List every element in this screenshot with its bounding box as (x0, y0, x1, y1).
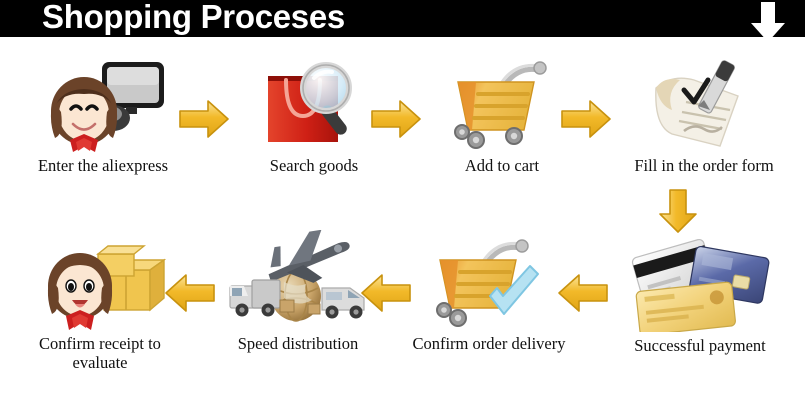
step-fill-in-the-order-form[interactable]: Fill in the order form (608, 56, 800, 175)
order-form-pen-icon (608, 56, 800, 152)
step-caption: Add to cart (418, 156, 586, 175)
step-caption: Enter the aliexpress (8, 156, 198, 175)
step-speed-distribution[interactable]: Speed distribution (208, 230, 388, 353)
step-caption: Speed distribution (208, 334, 388, 353)
step-caption: Confirm order delivery (396, 334, 582, 353)
step-caption: Successful payment (600, 336, 800, 355)
step-caption: Confirm receipt to evaluate (6, 334, 194, 372)
step-confirm-order-delivery[interactable]: Confirm order delivery (396, 234, 582, 353)
logistics-plane-truck-icon (208, 230, 388, 330)
arrow-4-to-5 (656, 188, 700, 234)
step-caption: Fill in the order form (608, 156, 800, 175)
arrow-3-to-4 (560, 98, 612, 140)
header-bar: Shopping Proceses (0, 0, 805, 37)
cart-with-check-icon (396, 234, 582, 330)
step-confirm-receipt-to-evaluate[interactable]: Confirm receipt to evaluate (6, 234, 194, 372)
arrow-2-to-3 (370, 98, 422, 140)
arrow-1-to-2 (178, 98, 230, 140)
down-arrow-icon (748, 1, 788, 43)
girl-with-computer-icon (8, 56, 198, 152)
credit-cards-icon (600, 236, 800, 332)
page-title: Shopping Proceses (42, 0, 345, 36)
step-caption: Search goods (230, 156, 398, 175)
step-enter-the-aliexpress[interactable]: Enter the aliexpress (8, 56, 198, 175)
shopping-process-infographic: Shopping Proceses (0, 0, 805, 401)
step-successful-payment[interactable]: Successful payment (600, 236, 800, 355)
girl-with-parcels-icon (6, 234, 194, 330)
